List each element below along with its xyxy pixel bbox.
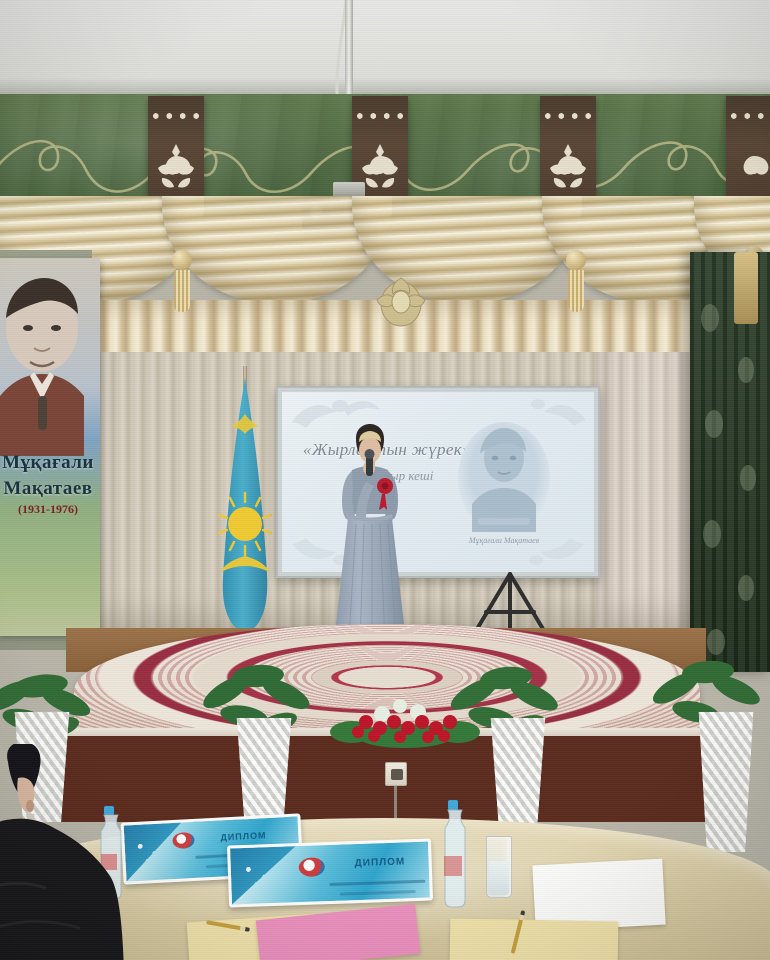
tassel-knob [172, 250, 192, 270]
slide-portrait-caption: Мұқағали Мақатаев [450, 536, 558, 545]
side-drape-right [690, 252, 770, 672]
gold-tassel [566, 250, 586, 312]
poet-name-first: Мұқағали [2, 452, 94, 473]
poet-portrait [0, 266, 98, 456]
jury-member-back-view [0, 744, 220, 960]
auditorium-photo: Мұқағали Мақатаев (1931-1976) [0, 0, 770, 960]
slide-poet-portrait [450, 414, 558, 542]
drape-tassel [734, 252, 758, 324]
tab-dot-row [352, 110, 408, 122]
diploma-title: ДИПЛОМ [220, 830, 267, 842]
tab-dot-row [148, 110, 204, 122]
stage-backdrop-curtain-right [596, 352, 700, 642]
tassel-skirt [174, 270, 190, 312]
gold-ornamental-medallion [372, 272, 430, 334]
tassel-knob [566, 250, 586, 270]
kazakhstan-flag [215, 378, 277, 634]
wall-socket [385, 762, 407, 786]
water-glass[interactable] [486, 836, 512, 898]
poet-name-last: Мақатаев [3, 478, 92, 499]
water-bottle[interactable] [440, 800, 466, 910]
poet-name: Мұқағали Мақатаев [0, 450, 100, 502]
tassel-skirt [568, 270, 584, 312]
tab-crest-ornament [152, 140, 200, 200]
tab-dot-row [726, 110, 770, 122]
gold-tassel [172, 250, 192, 312]
yellow-notepad[interactable] [450, 919, 619, 960]
socket-cable [394, 786, 397, 822]
tab-dot-row [540, 110, 596, 122]
poet-banner: Мұқағали Мақатаев (1931-1976) [0, 258, 100, 636]
diploma-text-line [340, 890, 416, 896]
damask-pattern [690, 252, 770, 672]
tab-crest-ornament [544, 140, 592, 200]
poet-years: (1931-1976) [0, 502, 100, 517]
diploma-certificate[interactable]: ДИПЛОМ [227, 838, 433, 907]
tab-crest-ornament [730, 140, 770, 200]
diploma-title: ДИПЛОМ [354, 856, 405, 869]
diploma-text-line [329, 880, 425, 886]
diploma-emblem [298, 857, 325, 877]
